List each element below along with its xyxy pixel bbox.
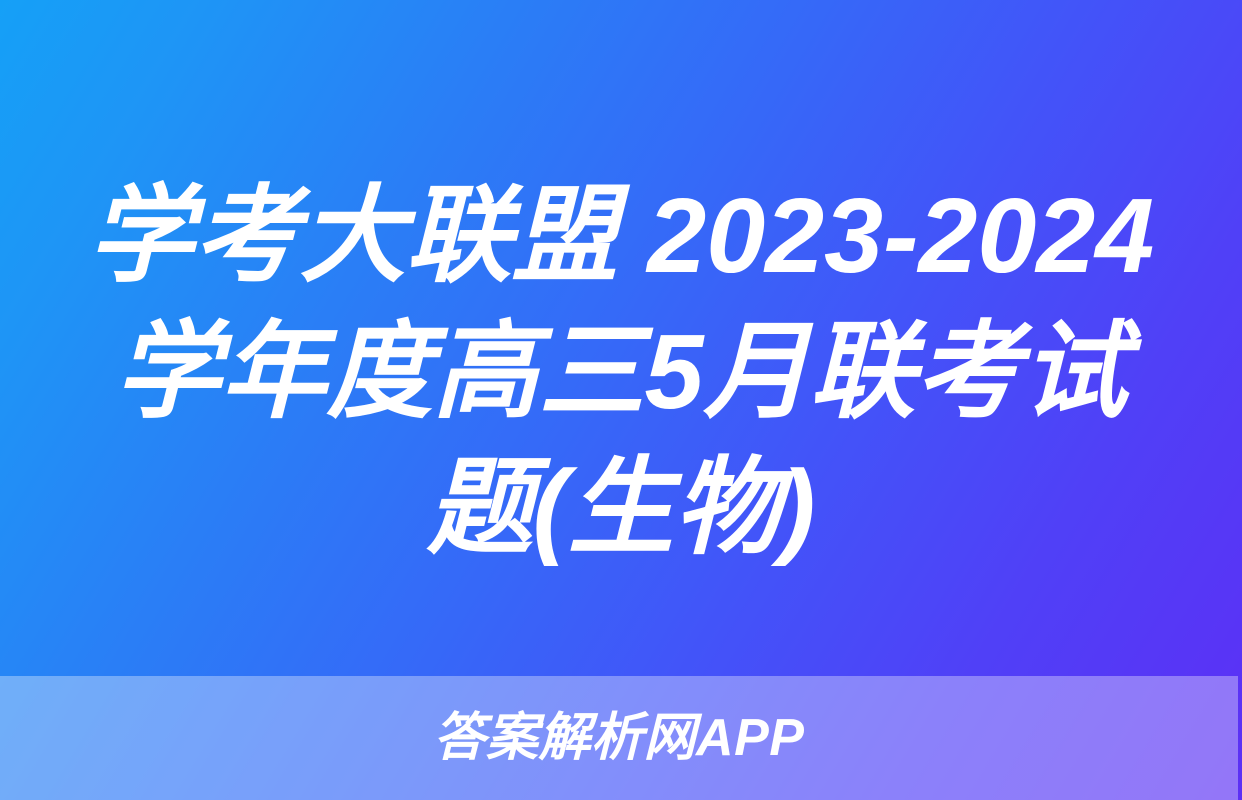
poster-canvas: 学考大联盟 2023-2024学年度高三5月联考试题(生物) 答案解析网APP: [0, 0, 1242, 800]
page-title: 学考大联盟 2023-2024学年度高三5月联考试题(生物): [78, 168, 1164, 576]
watermark-band: 答案解析网APP: [0, 676, 1238, 800]
watermark-text: 答案解析网APP: [434, 712, 805, 764]
page-title-text: 学考大联盟 2023-2024学年度高三5月联考试题(生物): [88, 177, 1154, 567]
